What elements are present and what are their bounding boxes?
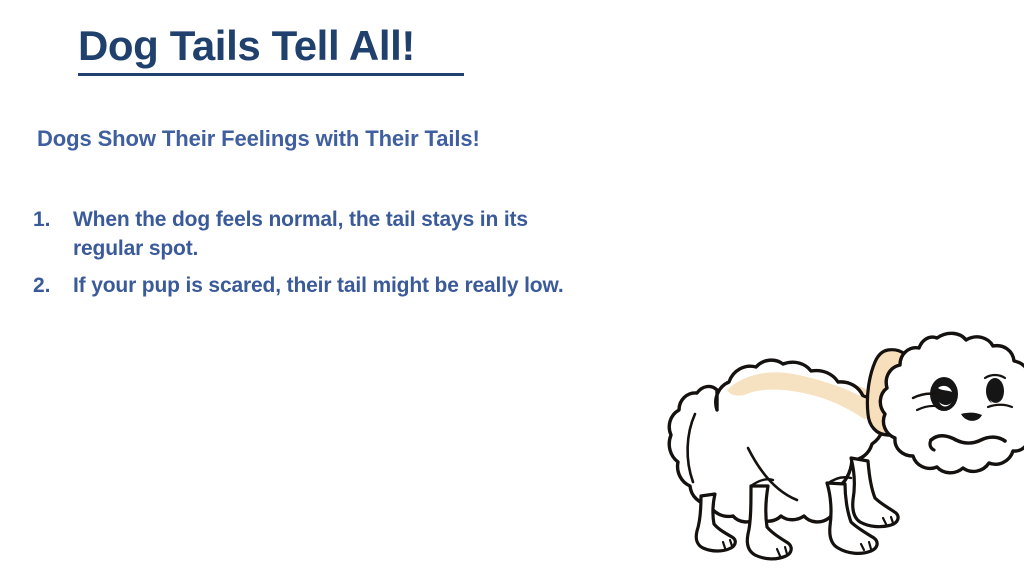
numbered-list: 1. When the dog feels normal, the tail s… (33, 206, 613, 309)
list-item: 1. When the dog feels normal, the tail s… (33, 206, 613, 264)
title-block: Dog Tails Tell All! (78, 24, 464, 76)
subtitle: Dogs Show Their Feelings with Their Tail… (37, 126, 480, 152)
page-title: Dog Tails Tell All! (78, 24, 464, 68)
list-item: 2. If your pup is scared, their tail mig… (33, 272, 613, 301)
title-underline (78, 73, 464, 76)
puppy-illustration (655, 328, 1024, 578)
list-item-number: 1. (33, 206, 73, 235)
slide-canvas: Dog Tails Tell All! Dogs Show Their Feel… (0, 0, 1024, 576)
list-item-text: If your pup is scared, their tail might … (73, 272, 564, 301)
puppy-graphic (669, 333, 1024, 559)
list-item-number: 2. (33, 272, 73, 301)
list-item-text: When the dog feels normal, the tail stay… (73, 206, 593, 264)
